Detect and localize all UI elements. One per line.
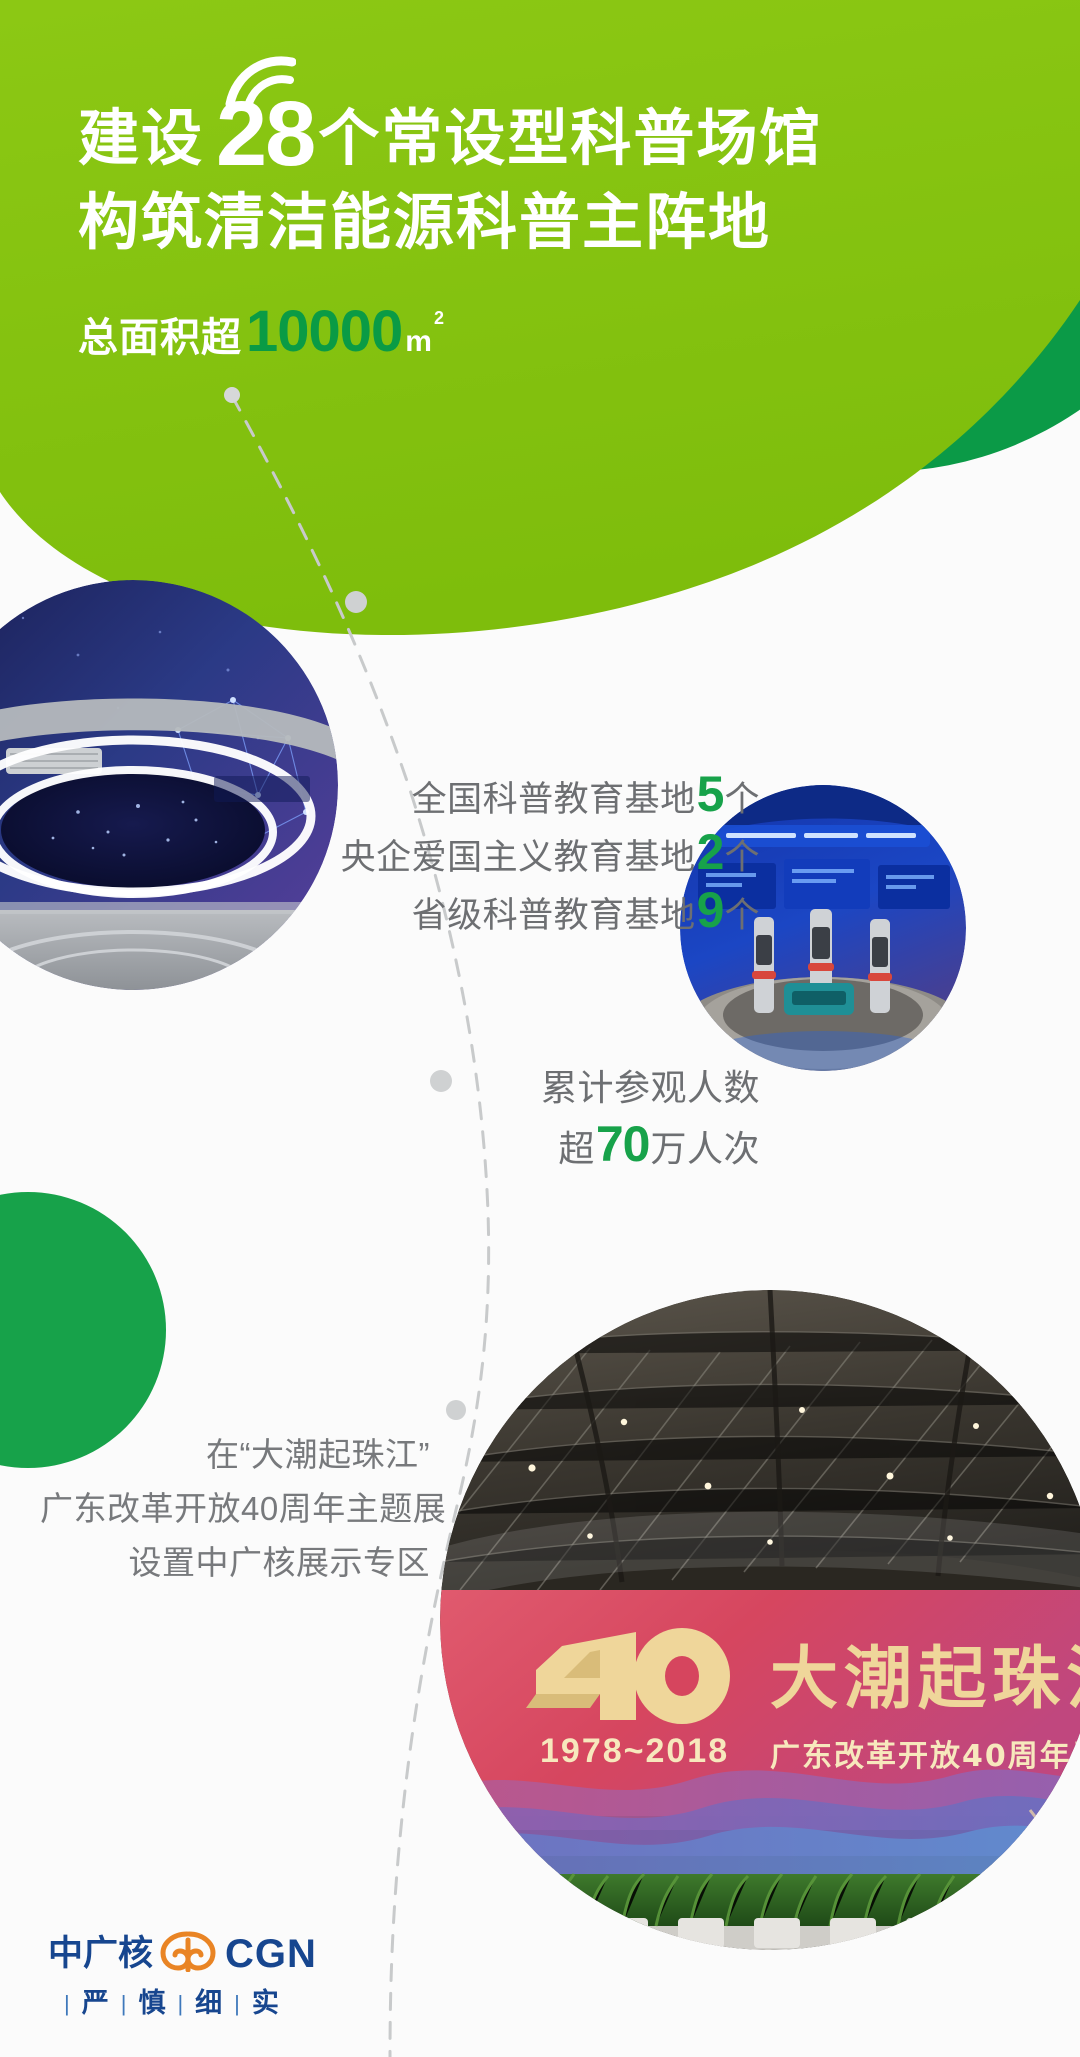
subtitle-unit-exponent: 2: [434, 308, 445, 328]
stat-block-expo: 在“大潮起珠江” 广东改革开放40周年主题展 设置中广核展示专区: [40, 1428, 430, 1590]
subtitle-unit-letter: m: [405, 325, 433, 358]
visits-line-1: 累计参观人数: [440, 1060, 760, 1116]
stat-row: 省级科普教育基地9个: [320, 884, 760, 942]
photo-exhibition-building: 1978~2018 大潮起珠江 广东改革开放40周年展览: [440, 1290, 1080, 1950]
expo-line-3: 设置中广核展示专区: [40, 1536, 430, 1590]
svg-text:1978~2018: 1978~2018: [540, 1732, 729, 1770]
header-text-group: 建设 28个常设型科普场馆 构筑清洁能源科普主阵地 总面积超 10000 m2: [78, 96, 998, 365]
subtitle-unit: m2: [405, 324, 444, 359]
headline-line-2: 构筑清洁能源科普主阵地: [78, 180, 998, 264]
headline-suffix: 个常设型科普场馆: [318, 104, 822, 172]
subtitle-area: 总面积超 10000 m2: [78, 298, 998, 365]
connector-dot-bases: [345, 591, 367, 613]
stat-value: 9: [696, 882, 725, 938]
expo-line-1: 在“大潮起珠江”: [40, 1428, 430, 1482]
stat-label: 省级科普教育基地: [412, 896, 696, 935]
svg-text:广东改革开放40周年展览: 广东改革开放40周年展览: [770, 1739, 1080, 1774]
stat-label: 全国科普教育基地: [412, 780, 696, 819]
logo-divider: |: [121, 1993, 127, 2015]
logo-value-2: 慎: [138, 1990, 165, 2017]
logo-divider: |: [234, 1993, 240, 2015]
visits-value: 70: [595, 1116, 651, 1172]
logo-values-row: | 严 | 慎 | 细 | 实: [48, 1990, 317, 2017]
headline-number-value: 28: [216, 83, 314, 185]
headline-prefix: 建设: [78, 104, 204, 172]
logo-primary-row: 中广核 CGN: [48, 1930, 317, 1977]
stat-value: 2: [696, 824, 725, 880]
subtitle-prefix: 总面积超: [78, 305, 242, 363]
logo-value-1: 严: [82, 1990, 109, 2017]
stat-unit: 个: [724, 780, 760, 819]
visits-suffix: 万人次: [650, 1128, 760, 1169]
connector-dot-top: [224, 387, 240, 403]
stat-unit: 个: [724, 838, 760, 877]
logo-chinese-name: 中广核: [48, 1936, 153, 1971]
stat-label: 央企爱国主义教育基地: [341, 838, 696, 877]
stat-block-bases: 全国科普教育基地5个 央企爱国主义教育基地2个 省级科普教育基地9个: [320, 768, 760, 942]
visits-prefix: 超: [558, 1128, 595, 1169]
stat-block-visits: 累计参观人数 超70万人次: [440, 1060, 760, 1177]
connector-dot-expo: [446, 1400, 466, 1420]
stat-value: 5: [696, 766, 725, 822]
logo-english-name: CGN: [225, 1934, 317, 1974]
subtitle-area-number: 10000: [246, 298, 402, 365]
visits-line-2: 超70万人次: [440, 1116, 760, 1177]
svg-text:大潮起珠江: 大潮起珠江: [770, 1640, 1080, 1719]
logo-value-4: 实: [252, 1990, 279, 2017]
cgn-logo: 中广核 CGN | 严 | 慎 | 细 | 实: [48, 1930, 317, 2017]
stat-unit: 个: [724, 896, 760, 935]
poster-root: 1978~2018 大潮起珠江 广东改革开放40周年展览: [0, 0, 1080, 2057]
cgn-swirl-icon: [157, 1930, 219, 1977]
logo-divider: |: [177, 1993, 183, 2015]
stat-row: 央企爱国主义教育基地2个: [320, 826, 760, 884]
stat-row: 全国科普教育基地5个: [320, 768, 760, 826]
logo-value-3: 细: [195, 1990, 222, 2017]
headline-line-1: 建设 28个常设型科普场馆: [78, 96, 998, 180]
connector-dot-visits: [430, 1070, 452, 1092]
logo-divider: |: [64, 1993, 70, 2015]
expo-line-2: 广东改革开放40周年主题展: [40, 1482, 430, 1536]
headline-number-28: 28: [216, 100, 314, 169]
